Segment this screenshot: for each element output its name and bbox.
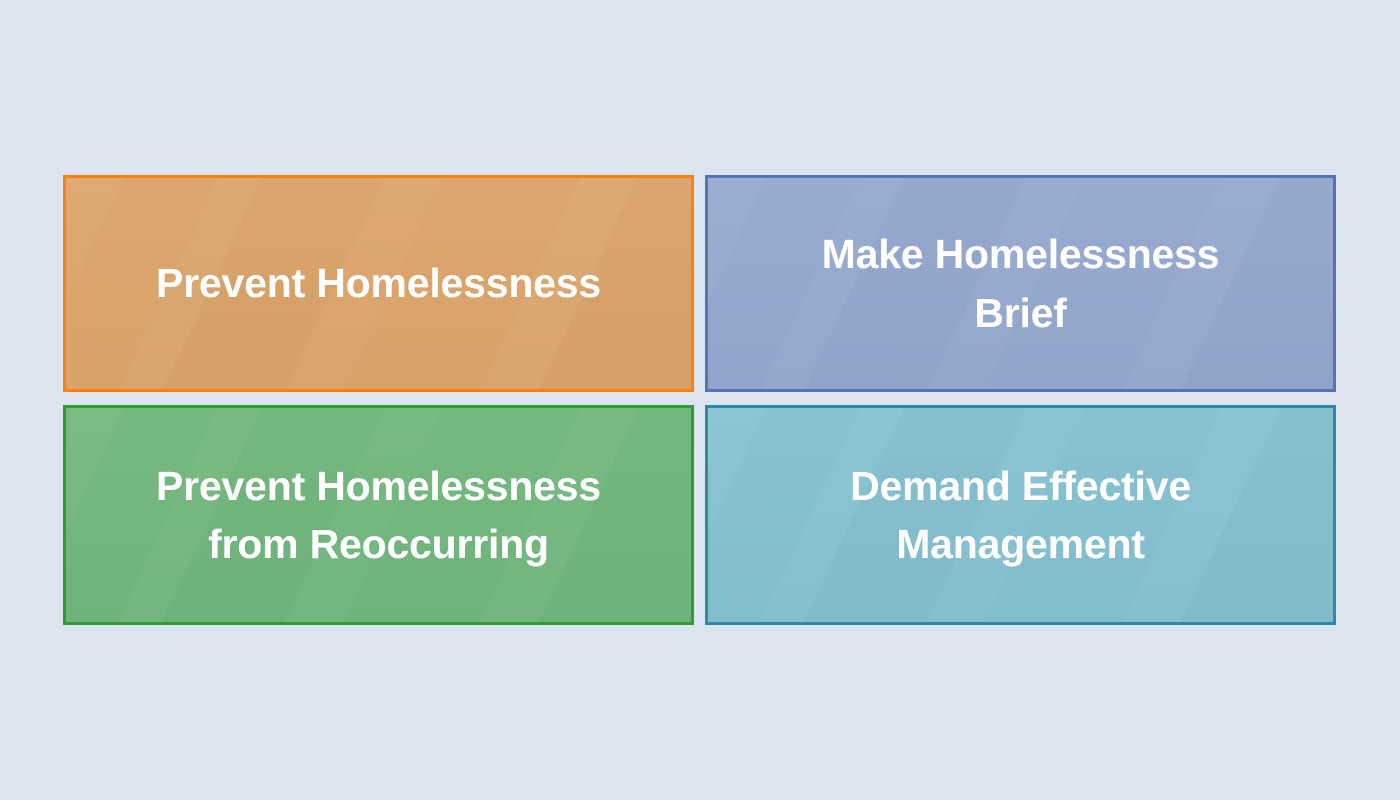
quadrant-label-prevent-homelessness-from-reoccurring: Prevent Homelessness from Reoccurring bbox=[130, 457, 627, 573]
quadrant-label-prevent-homelessness: Prevent Homelessness bbox=[130, 254, 627, 312]
quadrant-demand-effective-management[interactable]: Demand Effective Management bbox=[705, 405, 1336, 625]
quadrant-prevent-homelessness-from-reoccurring[interactable]: Prevent Homelessness from Reoccurring bbox=[63, 405, 694, 625]
quadrant-prevent-homelessness[interactable]: Prevent Homelessness bbox=[63, 175, 694, 392]
quadrant-label-demand-effective-management: Demand Effective Management bbox=[824, 457, 1217, 573]
quadrant-label-make-homelessness-brief: Make Homelessness Brief bbox=[796, 225, 1246, 341]
quadrant-make-homelessness-brief[interactable]: Make Homelessness Brief bbox=[705, 175, 1336, 392]
diagram-canvas: Prevent Homelessness Make Homelessness B… bbox=[0, 0, 1400, 800]
strategy-quadrant-grid: Prevent Homelessness Make Homelessness B… bbox=[63, 175, 1336, 625]
